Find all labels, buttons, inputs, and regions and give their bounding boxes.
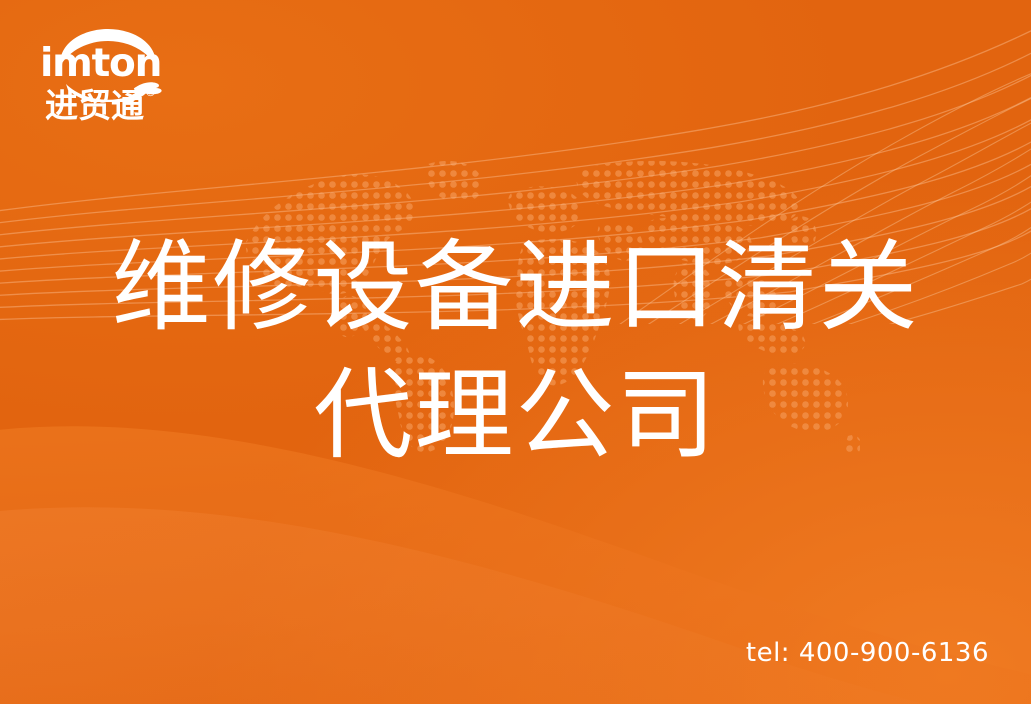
headline-line-2: 代理公司: [0, 352, 1031, 480]
promo-banner: imton进贸通® 维修设备进口清关 代理公司 tel: 400-900-613…: [0, 0, 1031, 704]
page-title: 维修设备进口清关 代理公司: [0, 224, 1031, 480]
logo-wordmark: imton进贸通®: [40, 43, 244, 127]
headline-line-1: 维修设备进口清关: [0, 224, 1031, 352]
contact-phone[interactable]: tel: 400-900-6136: [746, 638, 989, 668]
logo-latin-text: imton: [40, 43, 161, 85]
brand-logo[interactable]: imton进贸通®: [36, 26, 244, 102]
registered-trademark-icon: ®: [145, 87, 156, 99]
logo-chinese-text: 进贸通: [45, 85, 144, 127]
